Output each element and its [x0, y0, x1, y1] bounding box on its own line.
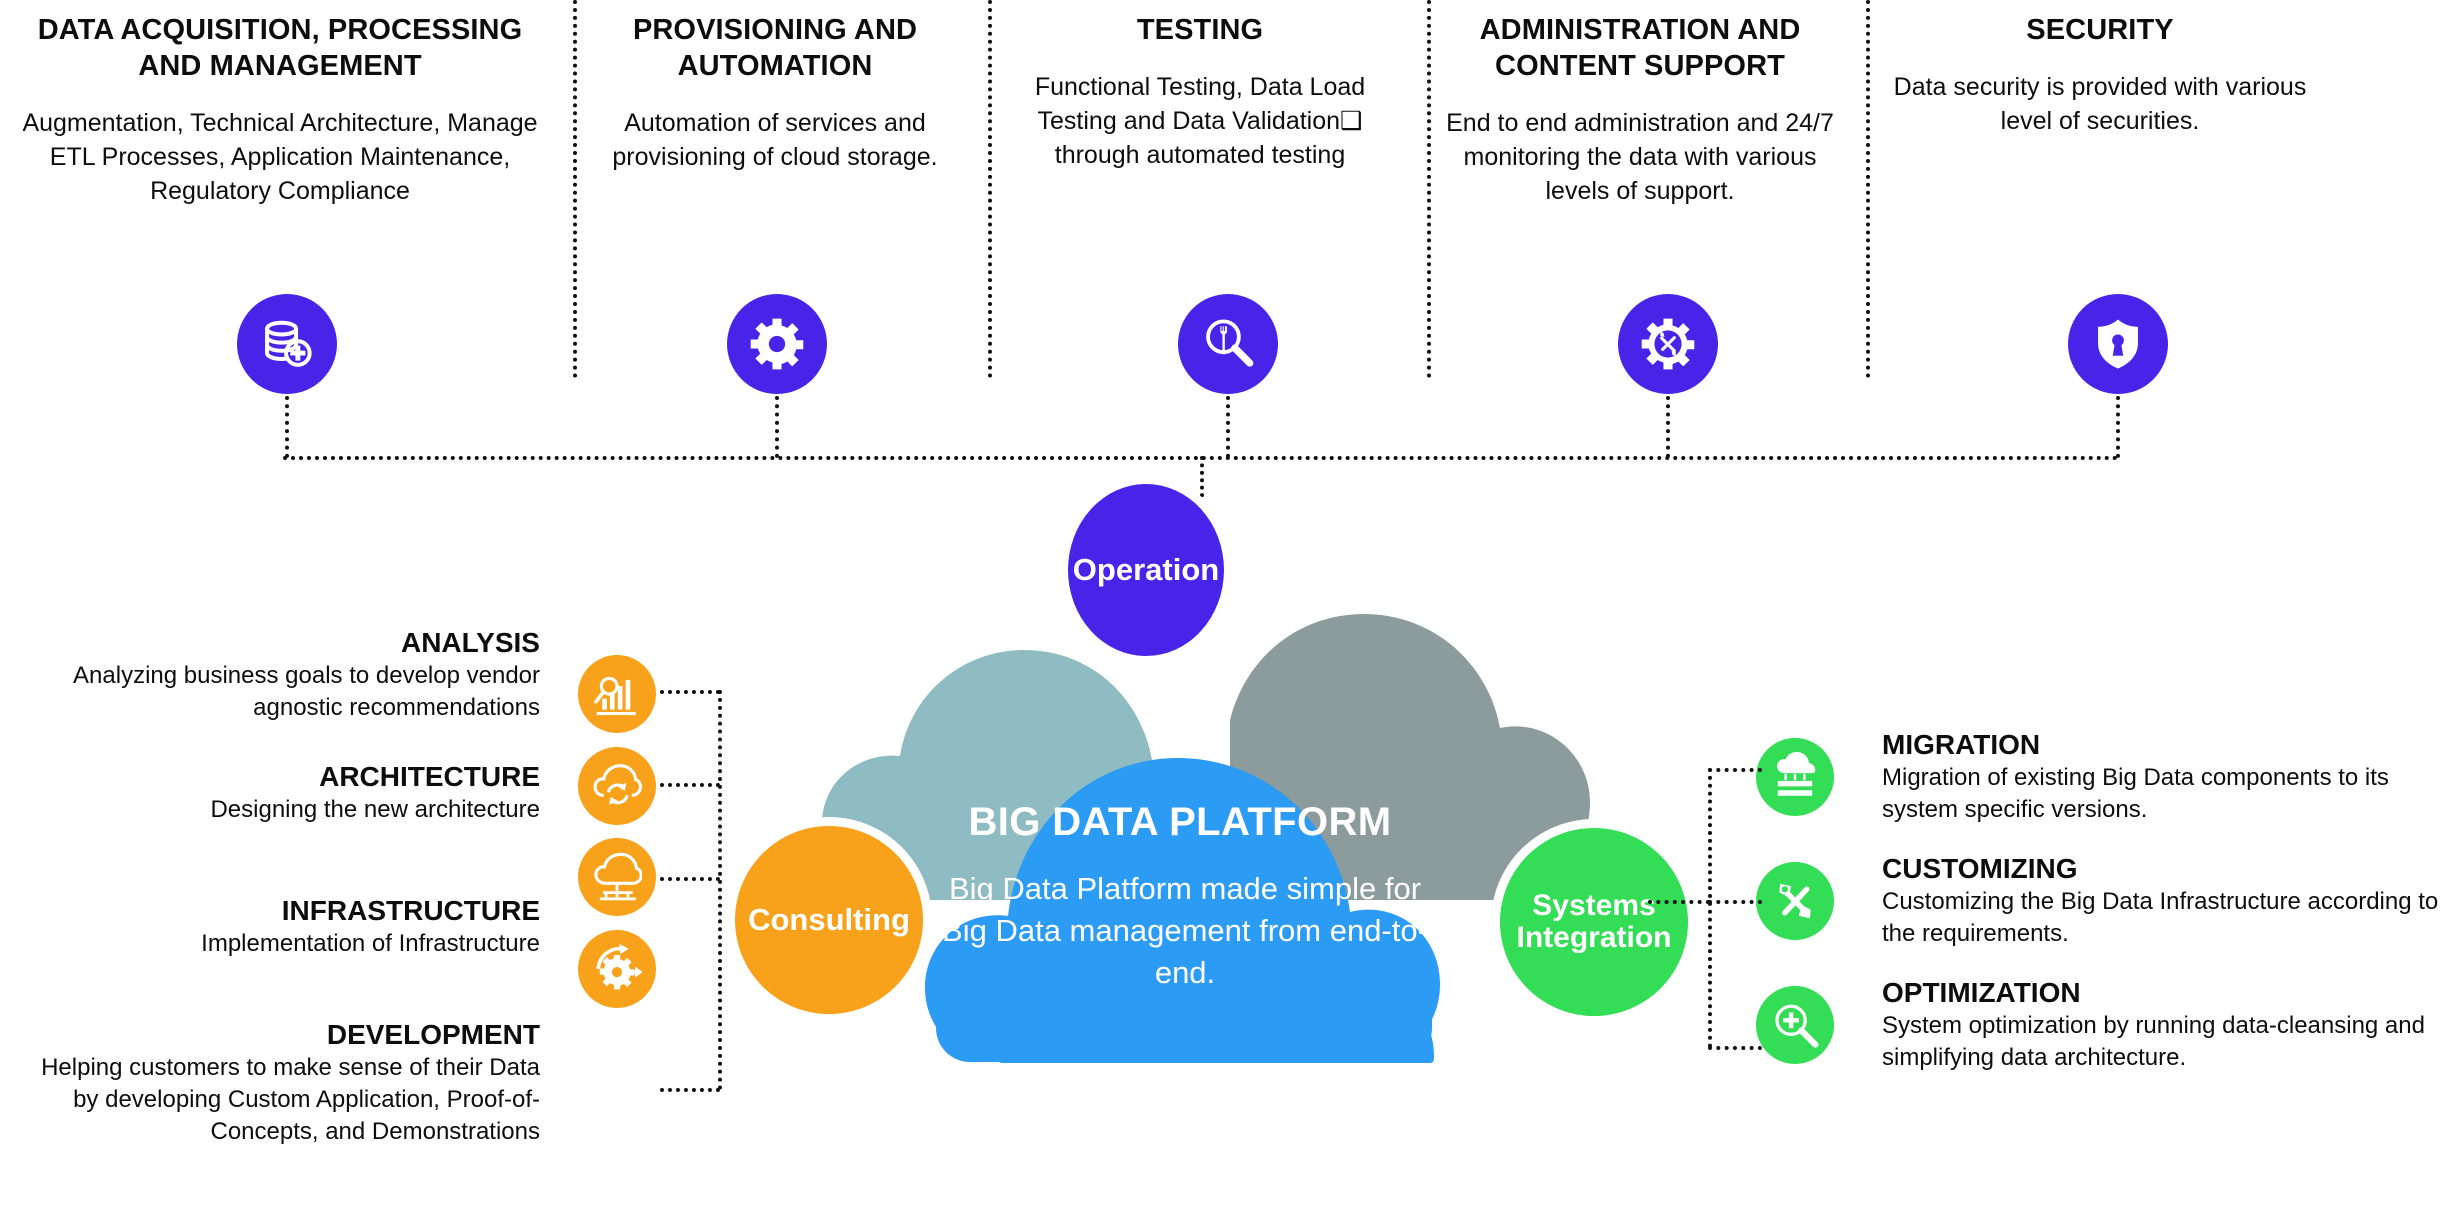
column-divider — [1866, 0, 1870, 378]
database-plus-icon-badge[interactable] — [237, 294, 337, 394]
database-plus-icon — [258, 315, 316, 373]
top-column-body: Automation of services and provisioning … — [585, 106, 965, 174]
cloud-server-icon — [1770, 752, 1820, 802]
cloud-title: BIG DATA PLATFORM — [920, 800, 1440, 845]
magnifier-plus-icon — [1770, 1000, 1820, 1050]
shield-lock-icon — [2089, 315, 2147, 373]
left-bracket-stub — [660, 1088, 720, 1092]
magnifier-wrench-icon — [1199, 315, 1257, 373]
connector-drop — [1666, 396, 1670, 458]
top-column-title: TESTING — [1000, 12, 1400, 48]
gear-tools-icon — [1639, 315, 1697, 373]
right-item-title: CUSTOMIZING — [1882, 852, 2451, 886]
top-column-body: Data security is provided with various l… — [1880, 70, 2320, 138]
left-item-analysis: ANALYSIS Analyzing business goals to dev… — [10, 626, 540, 724]
top-column-body: Functional Testing, Data Load Testing an… — [1000, 70, 1400, 172]
left-bracket-vertical — [718, 690, 722, 1090]
left-item-infrastructure: INFRASTRUCTURE Implementation of Infrast… — [10, 894, 540, 960]
right-bracket-to-bubble — [1648, 900, 1710, 904]
gear-arrow-icon — [592, 944, 642, 994]
left-item-architecture: ARCHITECTURE Designing the new architect… — [10, 760, 540, 826]
bubble-consulting[interactable]: Consulting — [735, 826, 923, 1014]
gear-tools-icon-badge[interactable] — [1618, 294, 1718, 394]
top-column-title: SECURITY — [1880, 12, 2320, 48]
right-item-body: System optimization by running data-clea… — [1882, 1010, 2451, 1074]
column-divider — [573, 0, 577, 378]
right-item-body: Migration of existing Big Data component… — [1882, 762, 2451, 826]
connector-drop — [2116, 396, 2120, 458]
cloud-sync-icon — [592, 761, 642, 811]
left-item-body: Helping customers to make sense of their… — [10, 1052, 540, 1148]
right-bracket-stub — [1708, 900, 1762, 904]
bubble-systems-integration[interactable]: Systems Integration — [1500, 828, 1688, 1016]
bubble-operation-label: Operation — [1073, 553, 1219, 586]
gear-arrow-icon-badge[interactable] — [578, 930, 656, 1008]
bubble-consulting-label: Consulting — [748, 903, 910, 936]
magnifier-plus-icon-badge[interactable] — [1756, 986, 1834, 1064]
left-item-title: INFRASTRUCTURE — [10, 894, 540, 928]
connector-drop — [775, 396, 779, 458]
connector-drop — [1226, 396, 1230, 458]
cloud-server-icon-badge[interactable] — [1756, 738, 1834, 816]
left-item-body: Implementation of Infrastructure — [10, 928, 540, 960]
chart-magnifier-icon-badge[interactable] — [578, 655, 656, 733]
right-item-title: MIGRATION — [1882, 728, 2451, 762]
cloud-network-icon — [592, 852, 642, 902]
right-item-body: Customizing the Big Data Infrastructure … — [1882, 886, 2451, 950]
magnifier-wrench-icon-badge[interactable] — [1178, 294, 1278, 394]
cloud-subtitle: Big Data Platform made simple for Big Da… — [935, 868, 1435, 994]
gear-icon-badge[interactable] — [727, 294, 827, 394]
left-item-development: DEVELOPMENT Helping customers to make se… — [10, 1018, 540, 1148]
left-item-title: ARCHITECTURE — [10, 760, 540, 794]
cloud-network-icon-badge[interactable] — [578, 838, 656, 916]
right-item-migration: MIGRATION Migration of existing Big Data… — [1882, 728, 2451, 826]
left-bracket-stub — [660, 690, 720, 694]
right-item-title: OPTIMIZATION — [1882, 976, 2451, 1010]
column-divider — [988, 0, 992, 378]
left-bracket-stub — [660, 783, 720, 787]
left-bracket-stub — [660, 877, 720, 881]
column-divider — [1427, 0, 1431, 378]
top-column-title: DATA ACQUISITION, PROCESSING AND MANAGEM… — [0, 12, 560, 84]
right-bracket-stub — [1708, 1046, 1762, 1050]
top-column-title: ADMINISTRATION AND CONTENT SUPPORT — [1440, 12, 1840, 84]
gear-icon — [748, 315, 806, 373]
wrench-screwdriver-icon — [1770, 876, 1820, 926]
left-item-title: DEVELOPMENT — [10, 1018, 540, 1052]
shield-lock-icon-badge[interactable] — [2068, 294, 2168, 394]
top-column-body: Augmentation, Technical Architecture, Ma… — [0, 106, 560, 208]
right-item-customizing: CUSTOMIZING Customizing the Big Data Inf… — [1882, 852, 2451, 950]
right-bracket-stub — [1708, 768, 1762, 772]
bubble-operation[interactable]: Operation — [1068, 484, 1224, 656]
top-column-body: End to end administration and 24/7 monit… — [1440, 106, 1840, 208]
left-item-body: Designing the new architecture — [10, 794, 540, 826]
cloud-sync-icon-badge[interactable] — [578, 747, 656, 825]
right-item-optimization: OPTIMIZATION System optimization by runn… — [1882, 976, 2451, 1074]
chart-magnifier-icon — [592, 669, 642, 719]
left-item-body: Analyzing business goals to develop vend… — [10, 660, 540, 724]
left-item-title: ANALYSIS — [10, 626, 540, 660]
right-bracket-vertical — [1708, 768, 1712, 1048]
connector-drop — [285, 396, 289, 458]
top-column-title: PROVISIONING AND AUTOMATION — [585, 12, 965, 84]
wrench-screwdriver-icon-badge[interactable] — [1756, 862, 1834, 940]
